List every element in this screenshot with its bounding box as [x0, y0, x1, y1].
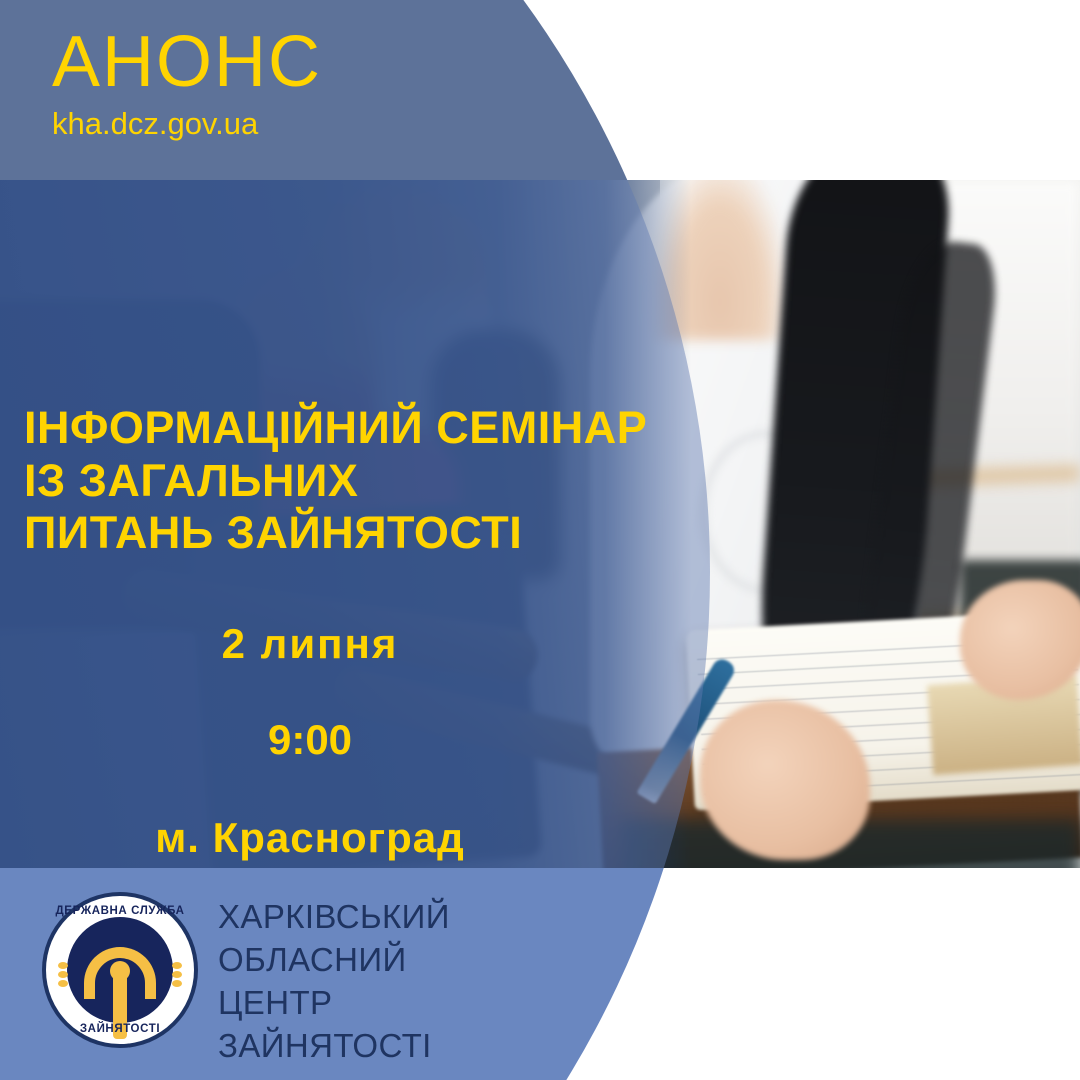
wheat-icon-right [170, 962, 184, 988]
footer-band: ДЕРЖАВНА СЛУЖБА ЗАЙНЯТОСТІ ХАРКІВСЬКИЙ О… [0, 868, 1080, 1080]
poster: АНОНС kha.dcz.gov.ua ІНФОРМАЦІЙНИЙ СЕМІН… [0, 0, 1080, 1080]
website-url: kha.dcz.gov.ua [52, 108, 322, 139]
woman-neckline [650, 180, 790, 340]
employment-service-emblem-icon: ДЕРЖАВНА СЛУЖБА ЗАЙНЯТОСТІ [46, 896, 194, 1044]
seminar-room-scene [0, 180, 660, 868]
supporting-hand [960, 580, 1080, 700]
emblem-top-text: ДЕРЖАВНА СЛУЖБА [46, 905, 194, 917]
organization-name: ХАРКІВСЬКИЙ ОБЛАСНИЙ ЦЕНТР ЗАЙНЯТОСТІ [218, 892, 450, 1068]
background-photo [0, 180, 1080, 868]
header-band: АНОНС kha.dcz.gov.ua [0, 0, 1080, 180]
emblem-core-disc [67, 917, 173, 1023]
announcement-kicker: АНОНС [52, 26, 322, 98]
wheat-icon-left [56, 962, 70, 988]
header-text-group: АНОНС kha.dcz.gov.ua [52, 26, 322, 139]
footer-content: ДЕРЖАВНА СЛУЖБА ЗАЙНЯТОСТІ ХАРКІВСЬКИЙ О… [46, 892, 450, 1068]
emblem-bottom-text: ЗАЙНЯТОСТІ [46, 1023, 194, 1035]
